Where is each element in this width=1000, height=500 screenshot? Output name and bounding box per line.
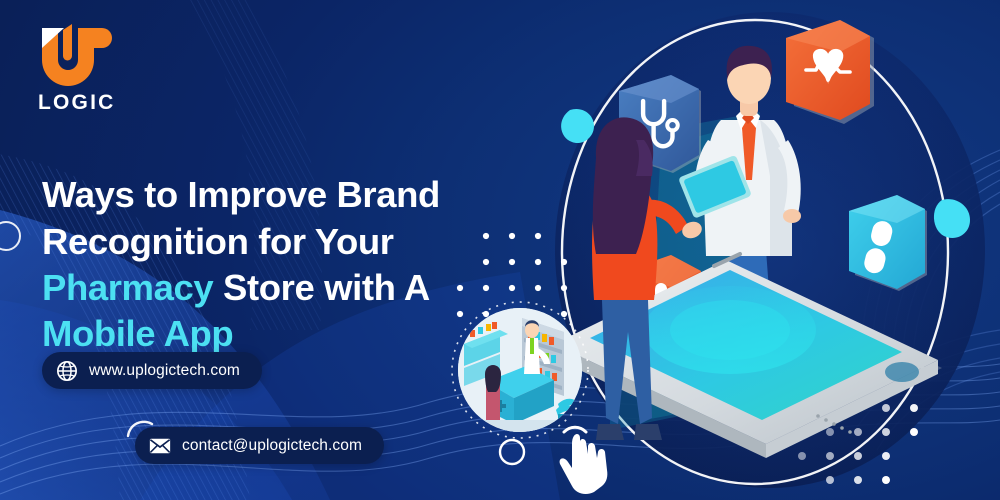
marketing-banner: LOGIC Ways to Improve Brand Recognition … xyxy=(0,0,1000,500)
left-decor xyxy=(0,0,1000,500)
outline-circle-left xyxy=(0,222,20,250)
arc-near-email-pill xyxy=(128,422,152,436)
